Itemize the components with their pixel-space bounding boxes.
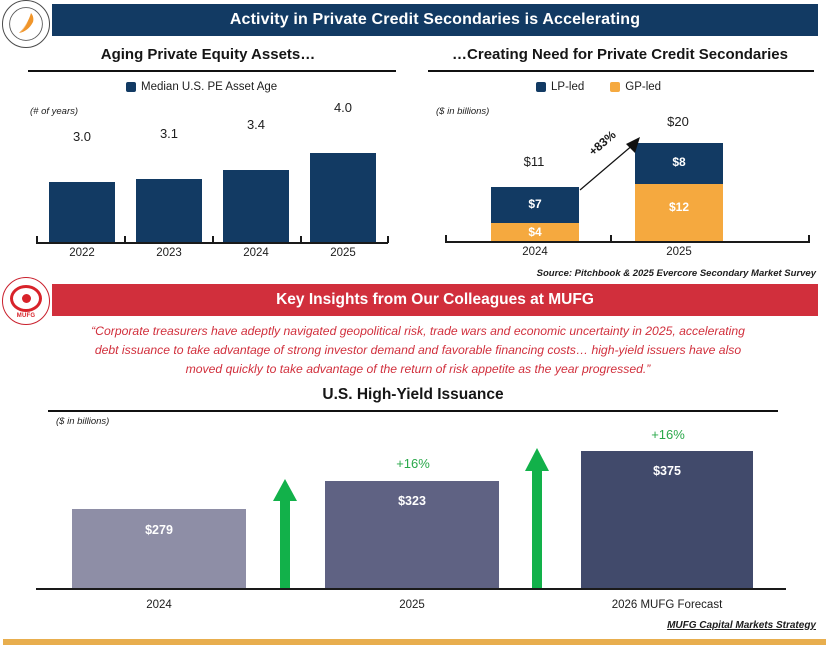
chart2-source-note: Source: Pitchbook & 2025 Evercore Second… — [537, 268, 816, 279]
footer-gold-rule — [0, 639, 826, 645]
footer-attribution: MUFG Capital Markets Strategy — [667, 620, 816, 631]
chart1-category-2022: 2022 — [47, 247, 117, 259]
chart1-title: Aging Private Equity Assets… — [28, 46, 388, 63]
chart1-tick-2 — [212, 236, 214, 243]
legend-item-median-pe-asset-age: Median U.S. PE Asset Age — [126, 81, 277, 93]
mufg-target-logo-icon: MUFG — [2, 277, 50, 325]
chart1-category-2023: 2023 — [134, 247, 204, 259]
chart1-tick-4 — [387, 236, 389, 243]
quote-line-1: “Corporate treasurers have adeptly navig… — [38, 322, 798, 341]
chart3-growth-label-1: +16% — [355, 456, 471, 471]
chart3-growth-label-2: +16% — [610, 427, 726, 442]
chart2-segment-label-2024-lp: $7 — [491, 197, 579, 211]
chart1-tick-3 — [300, 236, 302, 243]
legend-item-lp-led: LP-led — [536, 81, 584, 93]
chart3-title: U.S. High-Yield Issuance — [33, 386, 793, 404]
chart1-category-2024: 2024 — [221, 247, 291, 259]
legend-swatch-icon — [126, 82, 136, 92]
chart1-bar-2022[interactable] — [49, 182, 115, 242]
chart2-total-label-2025: $20 — [638, 114, 718, 129]
chart1-value-label-2025: 4.0 — [308, 100, 378, 115]
chart1-bar-2025[interactable] — [310, 153, 376, 242]
quote-line-2: debt issuance to take advantage of stron… — [38, 341, 798, 360]
chart3-title-rule — [48, 410, 778, 412]
slide-canvas: Activity in Private Credit Secondaries i… — [0, 0, 826, 645]
chart1-tick-1 — [124, 236, 126, 243]
chart1-tick-0 — [36, 236, 38, 243]
chart2-legend: LP-led GP-led — [536, 81, 661, 93]
mufg-ring-shape — [10, 285, 42, 312]
chart3-units-label: ($ in billions) — [56, 416, 109, 427]
header-banner: Activity in Private Credit Secondaries i… — [52, 4, 818, 36]
insights-quote: “Corporate treasurers have adeptly navig… — [38, 322, 798, 379]
chart1-legend: Median U.S. PE Asset Age — [126, 81, 277, 93]
chart2-title: …Creating Need for Private Credit Second… — [424, 46, 816, 63]
chart3-growth-arrow-icon-2 — [524, 448, 550, 588]
mufg-dot-shape — [22, 294, 31, 303]
legend-label: LP-led — [551, 81, 584, 93]
left-edge-strip — [0, 0, 3, 645]
chart2-category-2025: 2025 — [639, 246, 719, 258]
chart2-title-rule — [428, 70, 814, 72]
chart1-title-rule — [28, 70, 396, 72]
chart1-bar-2023[interactable] — [136, 179, 202, 242]
chart2-segment-label-2025-lp: $8 — [635, 155, 723, 169]
chart3-category-2024: 2024 — [99, 599, 219, 611]
chart1-category-2025: 2025 — [308, 247, 378, 259]
chart2-tick-0 — [445, 235, 447, 242]
chart3-value-label-2024: $279 — [72, 523, 246, 537]
quote-line-3: moved quickly to take advantage of the r… — [38, 360, 798, 379]
legend-swatch-icon — [610, 82, 620, 92]
chart3-category-2026-forecast: 2026 MUFG Forecast — [607, 599, 727, 611]
legend-swatch-icon — [536, 82, 546, 92]
insights-banner: Key Insights from Our Colleagues at MUFG — [52, 284, 818, 316]
chart2-units-label: ($ in billions) — [436, 106, 489, 117]
chart1-value-label-2024: 3.4 — [221, 117, 291, 132]
chart3-category-2025: 2025 — [352, 599, 472, 611]
mufg-logo-wordmark: MUFG — [17, 313, 35, 319]
chart3-value-label-2026-forecast: $375 — [581, 464, 753, 478]
chart2-segment-label-2024-gp: $4 — [491, 225, 579, 239]
chart1-value-label-2022: 3.0 — [47, 129, 117, 144]
chart2-x-axis — [445, 241, 810, 243]
chart3-value-label-2025: $323 — [325, 494, 499, 508]
chart1-units-label: (# of years) — [30, 106, 78, 117]
chart1-value-label-2023: 3.1 — [134, 126, 204, 141]
chart1-bar-2024[interactable] — [223, 170, 289, 242]
insights-banner-title: Key Insights from Our Colleagues at MUFG — [276, 291, 594, 309]
chart2-tick-2 — [808, 235, 810, 242]
chart3-x-axis — [36, 588, 786, 590]
chart2-category-2024: 2024 — [495, 246, 575, 258]
chart3-growth-arrow-icon-1 — [272, 479, 298, 589]
legend-item-gp-led: GP-led — [610, 81, 661, 93]
chart2-total-label-2024: $11 — [494, 154, 574, 169]
chart2-segment-label-2025-gp: $12 — [635, 200, 723, 214]
mufg-bird-logo-icon — [2, 0, 50, 48]
legend-label: Median U.S. PE Asset Age — [141, 81, 277, 93]
chart3-bar-2024[interactable] — [72, 509, 246, 588]
page-title: Activity in Private Credit Secondaries i… — [230, 11, 640, 29]
chart2-tick-1 — [610, 235, 612, 242]
legend-label: GP-led — [625, 81, 661, 93]
